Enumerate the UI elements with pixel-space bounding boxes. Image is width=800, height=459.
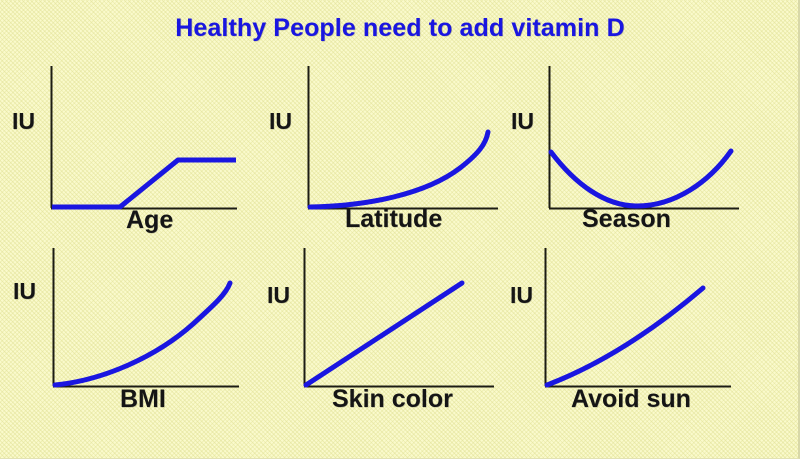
chart-panel-latitude bbox=[308, 66, 503, 212]
chart-svg-season bbox=[549, 66, 744, 212]
data-curve-bmi bbox=[55, 283, 230, 385]
x-axis-label-age: Age bbox=[126, 208, 173, 233]
x-axis-label-avoid-sun: Avoid sun bbox=[571, 387, 691, 412]
page-title: Healthy People need to add vitamin D bbox=[0, 14, 800, 43]
data-curve-avoid-sun bbox=[547, 288, 703, 385]
x-axis-label-latitude: Latitude bbox=[345, 207, 442, 232]
data-curve-season bbox=[551, 151, 731, 206]
chart-panel-season bbox=[549, 66, 744, 212]
y-axis-label-season: IU bbox=[511, 110, 534, 133]
y-axis-label-latitude: IU bbox=[269, 110, 292, 133]
data-curve-age bbox=[52, 160, 236, 207]
data-curve-skin-color bbox=[306, 283, 462, 385]
data-curve-latitude bbox=[310, 132, 488, 207]
slide-canvas: Healthy People need to add vitamin D IU … bbox=[0, 0, 800, 459]
y-axis-label-age: IU bbox=[12, 110, 35, 133]
y-axis-label-skin-color: IU bbox=[267, 284, 290, 307]
y-axis-label-bmi: IU bbox=[13, 280, 36, 303]
chart-panel-avoid-sun bbox=[545, 248, 740, 390]
chart-panel-age bbox=[51, 66, 241, 212]
chart-svg-bmi bbox=[53, 248, 243, 390]
x-axis-label-season: Season bbox=[582, 207, 671, 232]
chart-svg-latitude bbox=[308, 66, 503, 212]
chart-panel-skin-color bbox=[304, 248, 499, 390]
chart-svg-age bbox=[51, 66, 241, 212]
chart-panel-bmi bbox=[53, 248, 243, 390]
chart-svg-avoid-sun bbox=[545, 248, 740, 390]
y-axis-label-avoid-sun: IU bbox=[510, 284, 533, 307]
x-axis-label-skin-color: Skin color bbox=[332, 387, 453, 412]
x-axis-label-bmi: BMI bbox=[120, 387, 166, 412]
chart-svg-skin-color bbox=[304, 248, 499, 390]
